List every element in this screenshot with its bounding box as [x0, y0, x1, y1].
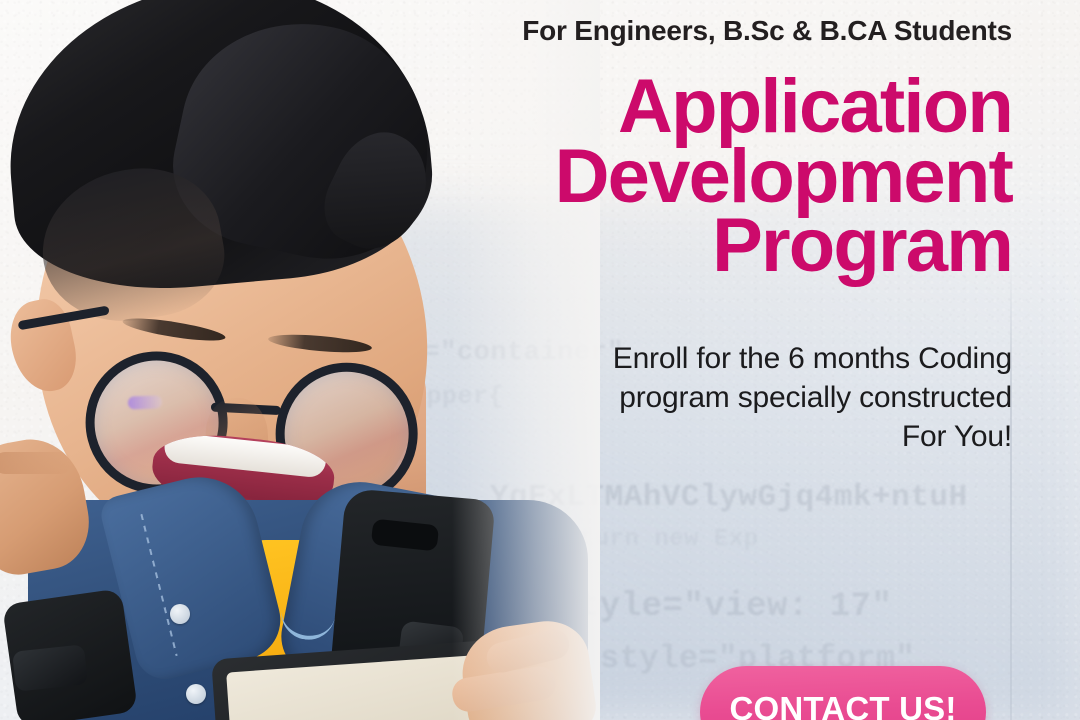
- backpack-buckle: [12, 644, 88, 691]
- page-title: Application Development Program: [412, 72, 1012, 282]
- promotional-poster: class="container" div.wrapper{ YqExLTMAh…: [0, 0, 1080, 720]
- description-line-3: For You!: [412, 417, 1012, 456]
- contact-us-label: CONTACT US!: [729, 690, 956, 720]
- description-text: Enroll for the 6 months Coding program s…: [412, 339, 1012, 456]
- headline-line-2: Development: [412, 142, 1012, 212]
- jacket-button: [186, 684, 206, 704]
- audience-eyebrow: For Engineers, B.Sc & B.CA Students: [412, 14, 1012, 48]
- description-line-1: Enroll for the 6 months Coding: [412, 339, 1012, 378]
- contact-us-button[interactable]: CONTACT US!: [700, 666, 986, 720]
- fist-knuckles: [0, 452, 72, 474]
- jacket-button: [170, 604, 190, 624]
- headline-line-1: Application: [412, 72, 1012, 142]
- text-content: For Engineers, B.Sc & B.CA Students Appl…: [412, 0, 1012, 456]
- headline-line-3: Program: [412, 211, 1012, 281]
- glasses-reflection: [128, 395, 162, 409]
- description-line-2: program specially constructed: [412, 378, 1012, 417]
